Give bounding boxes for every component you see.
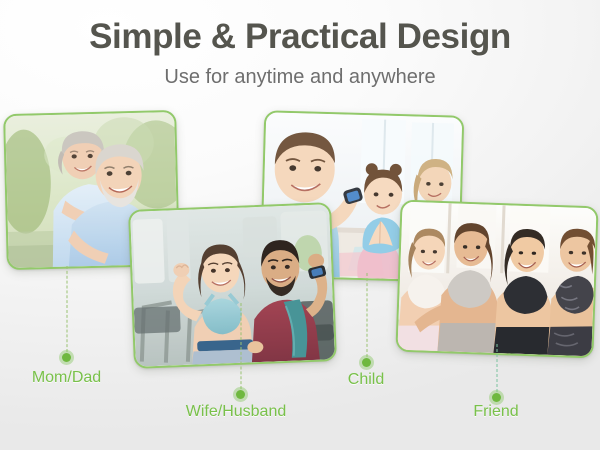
photo-couple: [130, 204, 335, 367]
photo-card-couple[interactable]: [128, 202, 337, 369]
connector-line: [366, 273, 367, 357]
connector-dot: [62, 353, 71, 362]
connector-dot: [362, 358, 371, 367]
connector-dot: [492, 393, 501, 402]
caption-mom-dad: Mom/Dad: [0, 369, 133, 387]
page-title: Simple & Practical Design: [0, 17, 600, 57]
promo-banner: Simple & Practical Design Use for anytim…: [0, 0, 600, 450]
caption-friend: Friend: [441, 403, 551, 421]
connector-friend: [492, 344, 501, 402]
caption-couple: Wife/Husband: [161, 403, 311, 421]
photo-card-friend[interactable]: [395, 200, 598, 359]
connector-dot: [236, 390, 245, 399]
page-subtitle: Use for anytime and anywhere: [0, 66, 600, 89]
connector-child: [362, 273, 371, 367]
connector-line: [66, 266, 67, 352]
connector-mom-dad: [62, 266, 71, 362]
connector-line: [496, 344, 497, 392]
photo-friend: [397, 202, 596, 357]
connector-line: [240, 303, 241, 389]
connector-couple: [236, 303, 245, 399]
caption-child: Child: [311, 371, 421, 389]
